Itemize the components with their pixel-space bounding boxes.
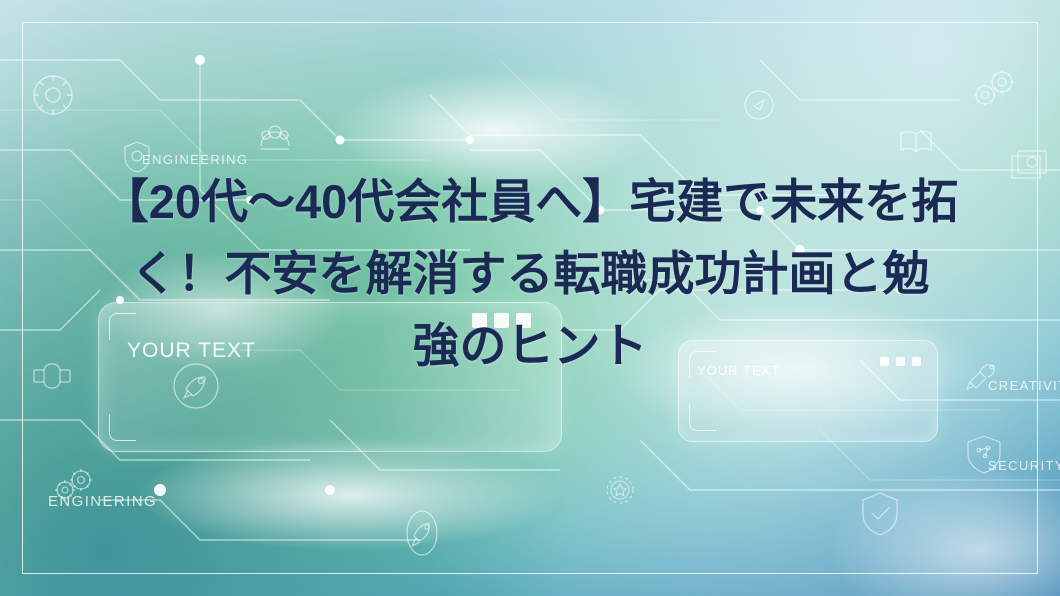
title-line-2: く！不安を解消する転職成功計画と勉	[55, 238, 1005, 310]
rocket-icon	[398, 505, 446, 561]
page-title: 【20代〜40代会社員へ】宅建で未来を拓 く！不安を解消する転職成功計画と勉 強…	[55, 166, 1005, 382]
people-icon	[255, 116, 295, 156]
engineering-label-top: ENGINEERING	[142, 152, 248, 167]
banner-root: ENGINEERING ENGINERING CREATIVITY SECURI…	[0, 0, 1060, 596]
gear-icon	[30, 72, 76, 118]
photo-icon	[1010, 148, 1050, 182]
card-corner-accent	[689, 404, 716, 431]
shield-check-icon	[858, 490, 902, 538]
title-line-1: 【20代〜40代会社員へ】宅建で未来を拓	[55, 166, 1005, 238]
badge-icon	[600, 470, 640, 510]
compass-icon	[742, 88, 776, 122]
security-label: SECURITY	[988, 458, 1060, 473]
gears-icon	[968, 68, 1020, 110]
title-line-3: 強のヒント	[55, 310, 1005, 382]
enginering-label-bottom: ENGINERING	[48, 493, 157, 510]
book-icon	[898, 128, 934, 156]
card-corner-accent	[109, 414, 136, 441]
